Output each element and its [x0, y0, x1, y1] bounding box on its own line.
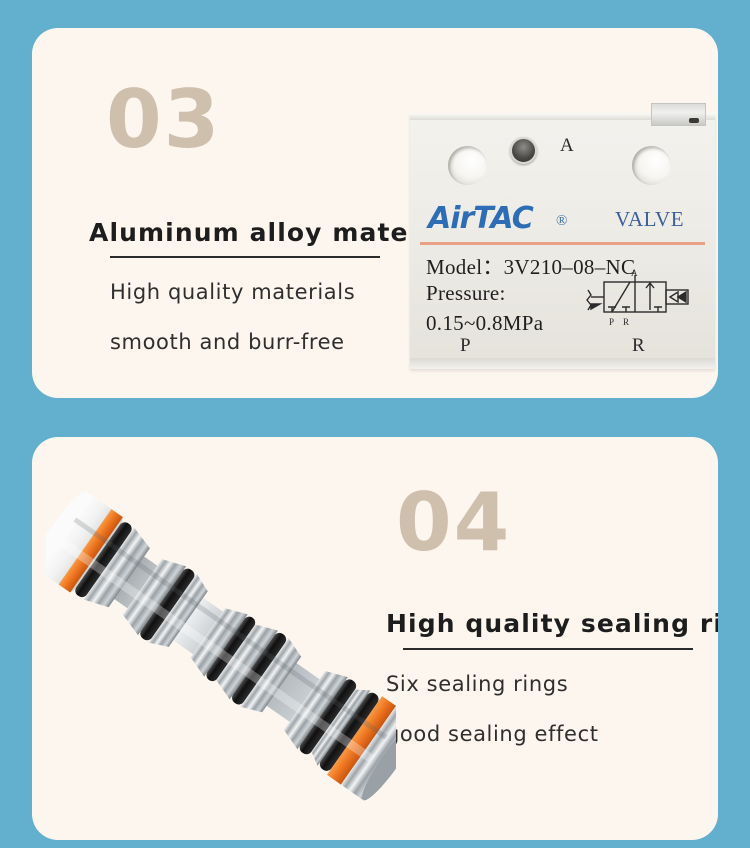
- section-subline-03-2: smooth and burr-free: [110, 330, 345, 354]
- section-subline-04-1: Six sealing rings: [386, 672, 568, 696]
- valve-pressure-label: Pressure:: [426, 281, 506, 306]
- schematic-label-r: R: [623, 317, 629, 327]
- schematic-label-a: A: [631, 268, 638, 278]
- headline-divider-03: [110, 256, 380, 258]
- valve-port-label-r: R: [632, 335, 645, 357]
- valve-word-label: VALVE: [615, 207, 684, 232]
- section-number-04: 04: [396, 483, 511, 563]
- valve-port-hole-left: [448, 146, 487, 185]
- section-headline-04: High quality sealing ring: [386, 609, 718, 638]
- section-subline-04-2: good sealing effect: [386, 722, 599, 746]
- airtac-brand-logo: AirTAC: [428, 201, 533, 236]
- valve-bottom-edge: [410, 358, 715, 369]
- section-card-03: 03 Aluminum alloy material High quality …: [32, 28, 718, 398]
- headline-divider-04: [403, 648, 693, 650]
- valve-pressure-value: 0.15~0.8MPa: [426, 311, 543, 336]
- valve-port-label-a: A: [560, 135, 574, 157]
- schematic-label-p: P: [609, 317, 614, 327]
- valve-tab-screw: [689, 118, 699, 123]
- section-headline-03: Aluminum alloy material: [89, 218, 459, 247]
- label-accent-rule: [420, 242, 705, 245]
- valve-metal-tab: [651, 103, 706, 126]
- valve-port-label-p: P: [460, 335, 471, 357]
- valve-port-hole-right: [632, 146, 671, 185]
- valve-spool-image: [46, 437, 396, 840]
- section-card-04: 04 High quality sealing ring Six sealing…: [32, 437, 718, 840]
- section-subline-03-1: High quality materials: [110, 280, 355, 304]
- valve-body-image: A P R AirTAC ® VALVE Model：3V210–08–NC P…: [410, 113, 715, 369]
- registered-trademark-icon: ®: [556, 213, 567, 230]
- pneumatic-schematic-icon: A P R: [582, 268, 702, 330]
- section-number-03: 03: [106, 80, 221, 160]
- valve-indicator-led: [510, 137, 537, 164]
